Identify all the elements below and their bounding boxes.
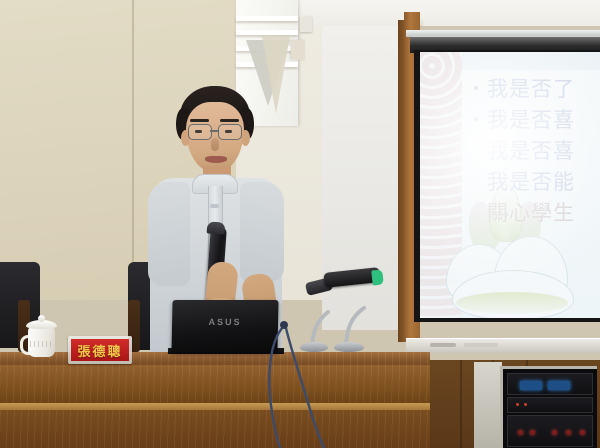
nose (211, 138, 219, 151)
screen-glare (420, 52, 600, 318)
photo-scene: 我是否了 我是否喜 我是否喜 我是否能 關心學生 (0, 0, 600, 448)
wall-seam (132, 0, 134, 300)
microphone-green-tip (371, 269, 384, 285)
nameplate-text: 張德聰 (77, 341, 122, 360)
ear-right (241, 130, 250, 146)
laptop-brand-logo: ASUS (208, 317, 241, 327)
eyebrow-right (220, 119, 239, 122)
rack-unit-middle[interactable] (507, 397, 593, 413)
rack-knob (530, 430, 535, 435)
button-frog (210, 204, 219, 208)
rack-display-left (520, 381, 542, 390)
av-cabinet-side (474, 362, 502, 448)
microphone-grille (207, 221, 226, 234)
rack-display-right (548, 381, 570, 390)
rack-unit-top[interactable] (507, 373, 593, 395)
nameplate: 張德聰 (71, 339, 129, 361)
av-equipment-rack (500, 366, 597, 448)
sleeve-left (148, 182, 190, 286)
rack-led (516, 403, 519, 406)
glasses-lens-left (188, 124, 212, 140)
power-cable (269, 326, 284, 448)
cable-connector (280, 321, 288, 329)
glasses-lens-right (218, 124, 242, 140)
projection-screen: 我是否了 我是否喜 我是否喜 我是否能 關心學生 (420, 52, 600, 318)
rack-led (524, 403, 527, 406)
teacup-pattern (30, 341, 53, 347)
rack-knob (552, 430, 557, 435)
rack-knob (580, 430, 585, 435)
rack-knob (566, 430, 571, 435)
glasses-bridge (210, 130, 218, 132)
screen-pull-handle (430, 343, 456, 347)
mouth (205, 156, 227, 163)
wall-fixture-left (300, 16, 312, 32)
rack-knob (518, 430, 523, 435)
wall-sculpture-plate (291, 40, 305, 60)
rack-unit-amplifier[interactable] (507, 415, 593, 447)
cable-group (250, 320, 370, 448)
screen-bar-strip (464, 343, 498, 347)
teacup-lid-knob (38, 315, 45, 322)
signal-cable (286, 328, 324, 448)
sleeve-right (240, 182, 284, 282)
eyebrow-left (190, 119, 209, 122)
